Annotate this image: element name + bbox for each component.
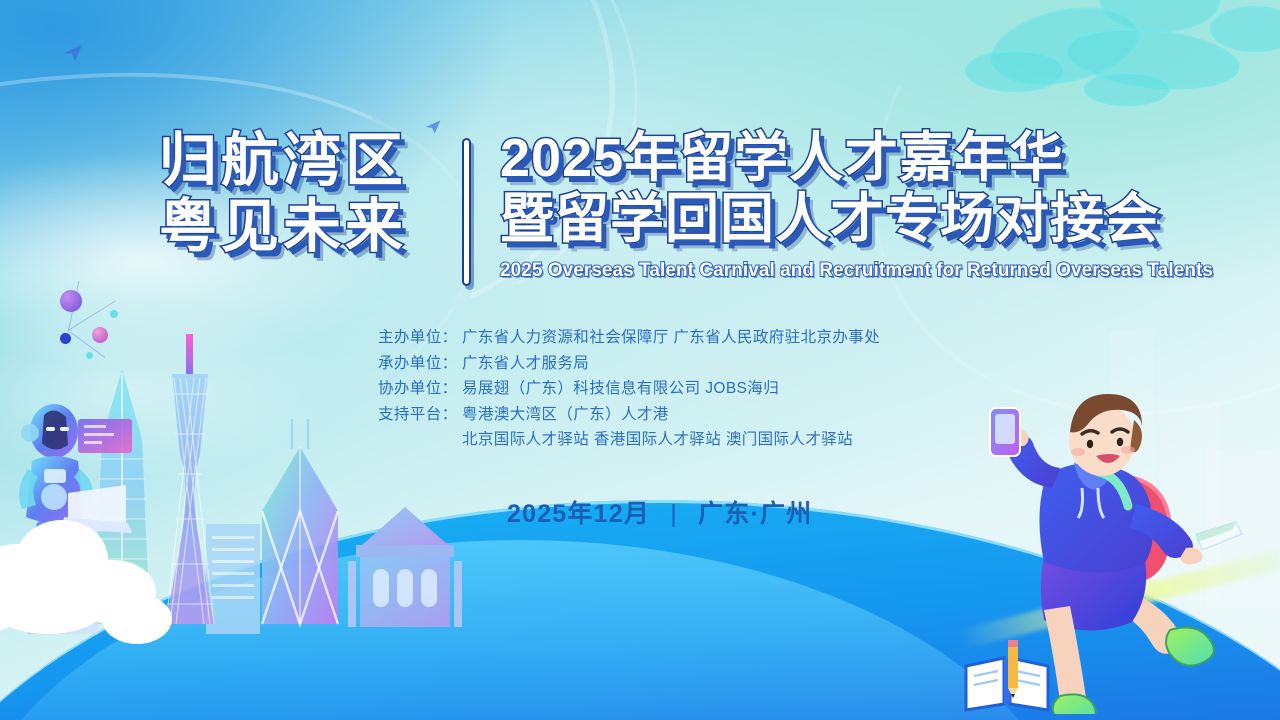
slogan-line-1: 归航湾区	[118, 128, 448, 194]
slogan-line-2: 粤见未来	[118, 194, 448, 260]
organizer-continuation: 北京国际人才驿站 香港国际人才驿站 澳门国际人才驿站	[378, 427, 880, 453]
title-line-1: 2025年留学人才嘉年华	[500, 130, 1200, 187]
promotional-banner: 归航湾区 粤见未来 2025年留学人才嘉年华 暨留学回国人才专场对接会 2025…	[0, 0, 1280, 720]
event-location: 广东·广州	[698, 500, 812, 528]
organizer-value: 广东省人才服务局	[462, 351, 589, 377]
organizer-value: 广东省人力资源和社会保障厅 广东省人民政府驻北京办事处	[462, 325, 880, 351]
paper-plane-icon	[62, 42, 84, 64]
organizer-label: 主办单位：	[378, 325, 462, 351]
date-location-line: 2025年12月 | 广东·广州	[507, 494, 812, 530]
organizer-value: 粤港澳大湾区（广东）人才港	[462, 402, 669, 428]
organizer-row: 主办单位： 广东省人力资源和社会保障厅 广东省人民政府驻北京办事处	[378, 325, 880, 351]
organizer-value: 易展翅（广东）科技信息有限公司 JOBS海归	[462, 376, 779, 402]
event-date: 2025年12月	[507, 500, 650, 528]
cloud-blob-5	[1084, 72, 1170, 106]
organizer-row: 支持平台： 粤港澳大湾区（广东）人才港	[378, 402, 880, 428]
date-separator: |	[670, 500, 678, 528]
cloud-cluster-bottom-left	[0, 498, 270, 648]
organizer-block: 主办单位： 广东省人力资源和社会保障厅 广东省人民政府驻北京办事处 承办单位： …	[378, 325, 880, 453]
organizer-label: 协办单位：	[378, 376, 462, 402]
pencil-icon	[1002, 638, 1024, 700]
title-line-2: 暨留学回国人才专场对接会	[500, 191, 1200, 248]
title-english-subtitle: 2025 Overseas Talent Carnival and Recrui…	[500, 259, 1179, 282]
vertical-divider	[462, 138, 471, 286]
organizer-row: 协办单位： 易展翅（广东）科技信息有限公司 JOBS海归	[378, 376, 880, 402]
organizer-label: 承办单位：	[378, 351, 462, 377]
organizer-row: 承办单位： 广东省人才服务局	[378, 351, 880, 377]
slogan: 归航湾区 粤见未来	[118, 128, 448, 260]
cloud-blob-4	[965, 50, 1065, 92]
title-block: 2025年留学人才嘉年华 暨留学回国人才专场对接会 2025 Overseas …	[500, 130, 1200, 282]
ruins-of-st-pauls-icon	[340, 499, 470, 634]
organizer-label: 支持平台：	[378, 402, 462, 428]
molecule-node-large	[60, 290, 82, 312]
